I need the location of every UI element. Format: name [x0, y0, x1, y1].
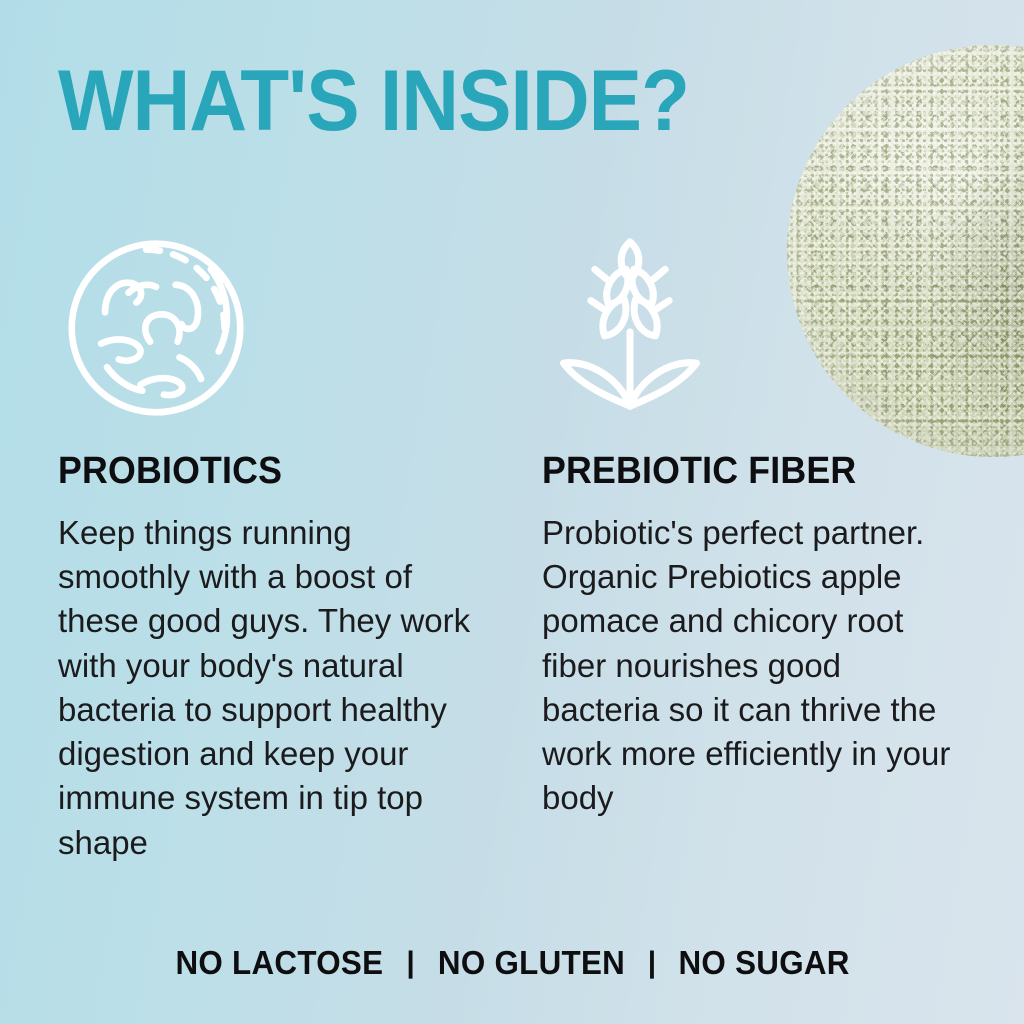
claim-no-lactose: NO LACTOSE: [175, 944, 383, 982]
wheat-stalk-icon: [542, 228, 978, 428]
claims-bar: NO LACTOSE | NO GLUTEN | NO SUGAR: [0, 944, 1024, 982]
card-body: Keep things running smoothly with a boos…: [58, 511, 474, 865]
claim-no-gluten: NO GLUTEN: [438, 944, 625, 982]
card-prebiotic-fiber: PREBIOTIC FIBER Probiotic's perfect part…: [542, 228, 1002, 865]
card-title: PROBIOTICS: [58, 450, 449, 493]
ingredient-cards: PROBIOTICS Keep things running smoothly …: [0, 228, 1024, 865]
probiotics-petri-dish-icon: [58, 228, 474, 428]
claim-separator: |: [388, 946, 432, 980]
card-title: PREBIOTIC FIBER: [542, 450, 952, 493]
card-probiotics: PROBIOTICS Keep things running smoothly …: [0, 228, 502, 865]
card-body: Probiotic's perfect partner. Organic Pre…: [542, 511, 952, 821]
claim-separator: |: [630, 946, 674, 980]
claim-no-sugar: NO SUGAR: [679, 944, 850, 982]
page-title: WHAT'S INSIDE?: [58, 58, 689, 144]
